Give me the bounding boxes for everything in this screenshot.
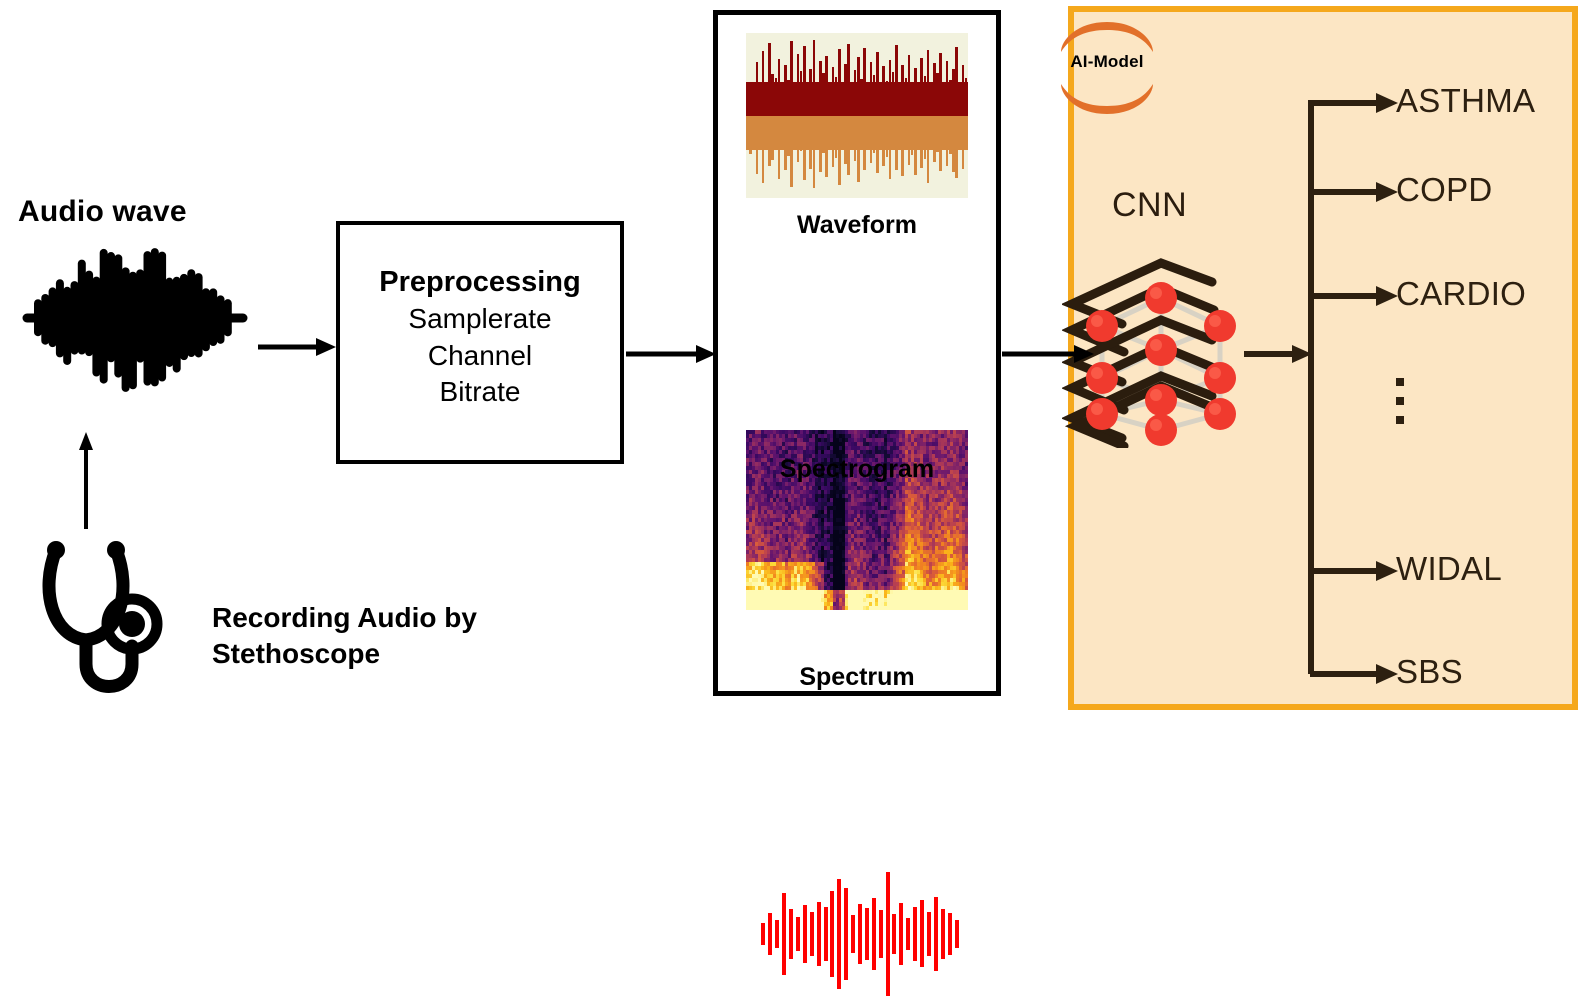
feature-label-spectrum: Spectrum [718,663,996,692]
output-branch-asthma [1310,91,1400,120]
output-branch-cardio [1310,284,1400,313]
features-to-cnn-arrow [1002,343,1096,365]
stethoscope-caption-line2: Stethoscope [212,636,477,672]
cnn-to-outputs-arrow [1244,343,1314,365]
feature-extraction-box: Waveform Spectrogram Spectrum [713,10,1001,696]
preprocessing-box: Preprocessing Samplerate Channel Bitrate [336,221,624,464]
preprocessing-item-channel: Channel [340,338,620,374]
output-branch-sbs [1310,662,1400,691]
ai-model-logo-text: AI-Model [1056,52,1158,72]
vertical-ellipsis-icon [1396,378,1404,435]
stethoscope-caption: Recording Audio by Stethoscope [212,600,477,672]
stethoscope-icon [28,528,198,704]
cnn-label: CNN [1112,186,1187,225]
stethoscope-caption-line1: Recording Audio by [212,600,477,636]
output-label-asthma: ASTHMA [1396,82,1535,120]
output-label-copd: COPD [1396,171,1493,209]
preprocessing-to-features-arrow [626,343,718,365]
audio-waveform-icon [22,238,248,398]
output-branch-copd [1310,180,1400,209]
output-branch-widal [1310,559,1400,588]
preprocessing-title: Preprocessing [340,263,620,301]
feature-label-spectrogram: Spectrogram [718,455,996,484]
feature-label-waveform: Waveform [718,211,996,240]
waveform-thumbnail [746,33,968,198]
preprocessing-item-samplerate: Samplerate [340,301,620,337]
output-label-cardio: CARDIO [1396,275,1526,313]
spectrum-thumbnail [746,868,968,1000]
output-label-sbs: SBS [1396,653,1463,691]
wave-to-preprocessing-arrow [258,336,338,358]
preprocessing-item-bitrate: Bitrate [340,374,620,410]
output-label-widal: WIDAL [1396,550,1502,588]
audio-wave-label: Audio wave [18,195,187,229]
stethoscope-to-wave-arrow [78,432,94,530]
